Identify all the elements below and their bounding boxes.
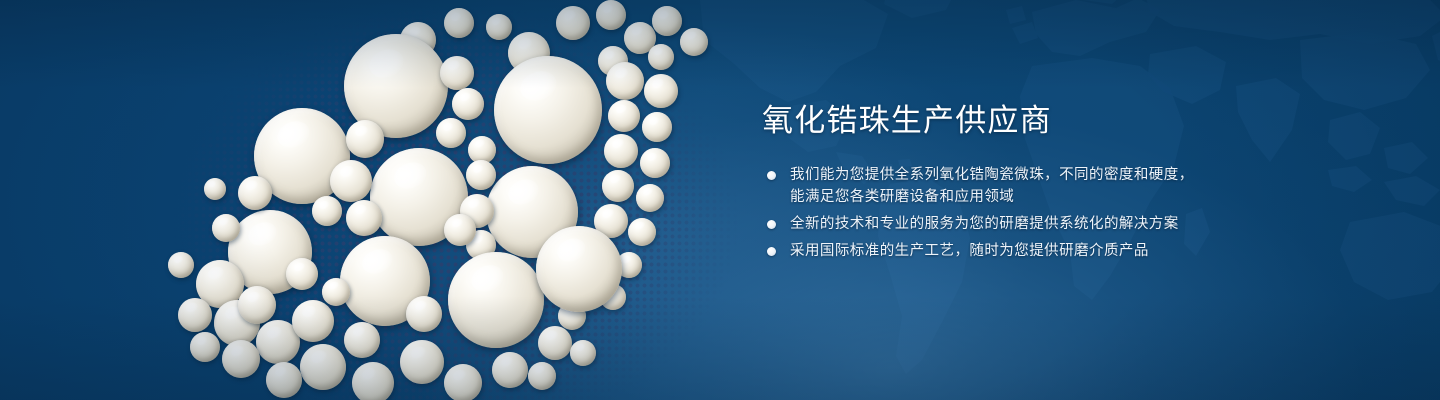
bullet-dot-icon bbox=[767, 247, 776, 256]
bullet-dot-icon bbox=[767, 171, 776, 180]
bullet-item-3: 采用国际标准的生产工艺，随时为您提供研磨介质产品 bbox=[762, 240, 1382, 262]
bullet-item-1: 我们能为您提供全系列氧化锆陶瓷微珠，不同的密度和硬度， 能满足您各类研磨设备和应… bbox=[762, 164, 1382, 208]
banner-bullet-list: 我们能为您提供全系列氧化锆陶瓷微珠，不同的密度和硬度， 能满足您各类研磨设备和应… bbox=[762, 164, 1382, 262]
bullet-text-continued: 能满足您各类研磨设备和应用领域 bbox=[790, 186, 1382, 208]
bullet-text: 我们能为您提供全系列氧化锆陶瓷微珠，不同的密度和硬度， bbox=[790, 164, 1382, 186]
banner-headline: 氧化锆珠生产供应商 bbox=[762, 104, 1382, 138]
hero-banner: 氧化锆珠生产供应商 我们能为您提供全系列氧化锆陶瓷微珠，不同的密度和硬度， 能满… bbox=[0, 0, 1440, 400]
bullet-text: 采用国际标准的生产工艺，随时为您提供研磨介质产品 bbox=[790, 240, 1382, 262]
bullet-item-2: 全新的技术和专业的服务为您的研磨提供系统化的解决方案 bbox=[762, 213, 1382, 235]
banner-copy: 氧化锆珠生产供应商 我们能为您提供全系列氧化锆陶瓷微珠，不同的密度和硬度， 能满… bbox=[762, 104, 1382, 262]
bullet-dot-icon bbox=[767, 220, 776, 229]
bullet-text: 全新的技术和专业的服务为您的研磨提供系统化的解决方案 bbox=[790, 213, 1382, 235]
